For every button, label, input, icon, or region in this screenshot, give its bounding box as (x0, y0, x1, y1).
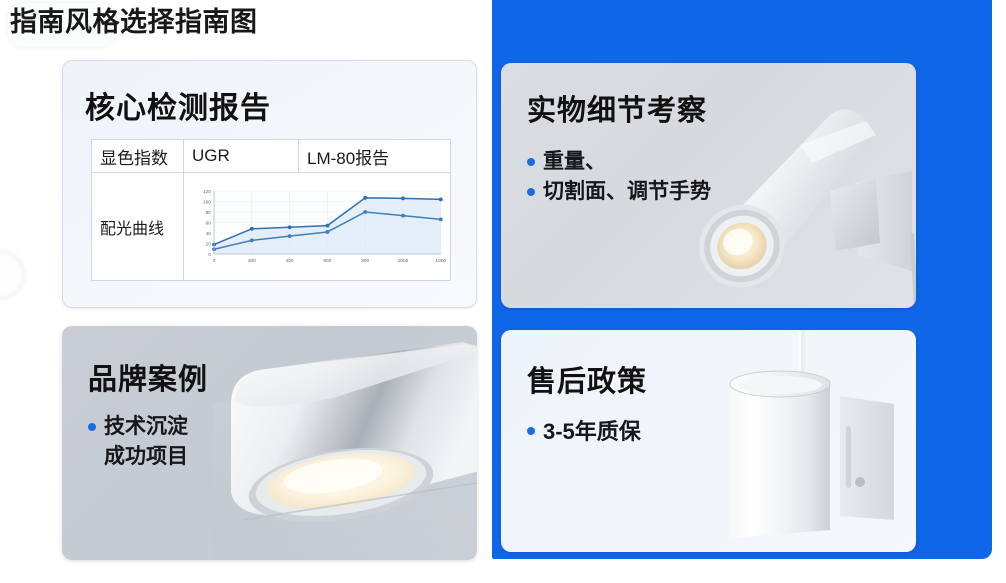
table-chart-cell: 120100806040200020040060080010001000 (184, 173, 451, 281)
list-item: 重量、 (527, 147, 711, 177)
svg-text:60: 60 (206, 221, 212, 226)
pendant-lamp-icon (712, 330, 902, 552)
spec-table: 显色指数 UGR LM-80报告 配光曲线 120100806040200020… (91, 139, 451, 281)
svg-text:200: 200 (248, 258, 256, 263)
table-header-cell-1: UGR (184, 140, 299, 173)
surface-downlight-icon (213, 342, 477, 560)
table-header-row: 显色指数 UGR LM-80报告 (92, 140, 451, 173)
list-item: 技术沉淀 (88, 412, 188, 442)
bullet-text: 成功项目 (104, 442, 188, 472)
wall-spotlight-icon (680, 83, 916, 308)
card-core-report[interactable]: 核心检测报告 显色指数 UGR LM-80报告 配光曲线 12010080604… (62, 60, 477, 308)
bullet-dot-spacer (88, 453, 96, 461)
bullet-dot (527, 158, 535, 166)
bullet-text: 重量、 (543, 147, 606, 177)
bullet-dot (527, 188, 535, 196)
card-brand-case-title: 品牌案例 (88, 356, 208, 398)
slide-canvas: 指南风格选择指南图 核心检测报告 显色指数 UGR LM-80报告 配光曲线 1… (0, 0, 1006, 583)
svg-text:40: 40 (206, 231, 212, 236)
svg-text:100: 100 (203, 200, 211, 205)
card-physical-detail[interactable]: 实物细节考察 重量、 切割面、调节手势 (501, 63, 916, 308)
table-header-cell-2: LM-80报告 (299, 140, 451, 173)
bullet-dot (88, 423, 96, 431)
svg-text:800: 800 (361, 258, 369, 263)
svg-text:600: 600 (323, 258, 331, 263)
bullet-text: 切割面、调节手势 (543, 177, 711, 207)
svg-text:20: 20 (206, 242, 212, 247)
bullet-text: 技术沉淀 (104, 412, 188, 442)
brand-case-bullets: 技术沉淀 成功项目 (88, 412, 188, 472)
bullet-dot (527, 427, 535, 435)
card-after-sales[interactable]: 售后政策 3-5年质保 (501, 330, 916, 552)
after-sales-bullets: 3-5年质保 (527, 416, 641, 447)
chart-svg: 120100806040200020040060080010001000 (187, 185, 447, 268)
table-row: 配光曲线 12010080604020002004006008001000100… (92, 173, 451, 281)
svg-text:0: 0 (208, 252, 211, 257)
physical-detail-bullets: 重量、 切割面、调节手势 (527, 147, 711, 207)
list-item: 3-5年质保 (527, 416, 641, 447)
svg-text:1000: 1000 (398, 258, 409, 263)
card-brand-case[interactable]: 品牌案例 技术沉淀 成功项目 (62, 326, 477, 560)
card-after-sales-title: 售后政策 (527, 358, 647, 400)
card-physical-detail-title: 实物细节考察 (527, 87, 707, 129)
decorative-circle (0, 252, 24, 298)
photometric-curve-chart: 120100806040200020040060080010001000 (187, 185, 447, 268)
table-header-cell-0: 显色指数 (92, 140, 184, 173)
list-item: 成功项目 (88, 442, 188, 472)
list-item: 切割面、调节手势 (527, 177, 711, 207)
svg-text:400: 400 (286, 258, 294, 263)
svg-text:0: 0 (213, 258, 216, 263)
table-row-label: 配光曲线 (92, 173, 184, 281)
page-title: 指南风格选择指南图 (10, 6, 258, 40)
bullet-text: 3-5年质保 (543, 416, 641, 447)
svg-text:120: 120 (203, 189, 211, 194)
svg-text:80: 80 (206, 210, 212, 215)
svg-text:1000: 1000 (435, 258, 446, 263)
card-core-report-title: 核心检测报告 (85, 83, 271, 127)
